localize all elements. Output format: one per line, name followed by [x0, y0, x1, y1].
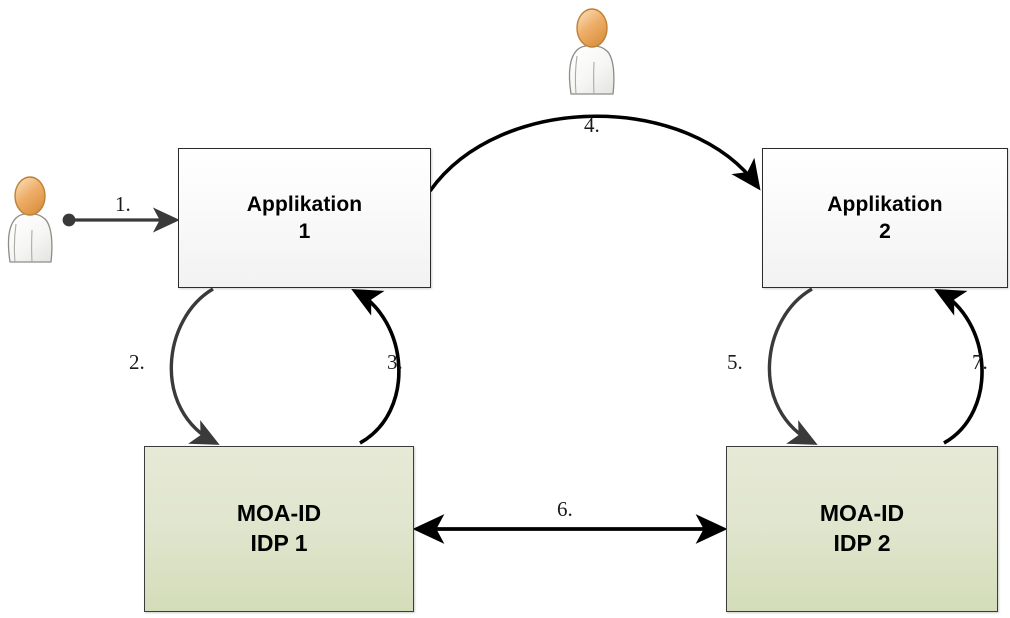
node-moa-id-idp-2-line2: IDP 2 [833, 529, 890, 559]
node-applikation-2-line1: Applikation [827, 191, 942, 218]
node-moa-id-idp-1-line1: MOA-ID [237, 499, 321, 529]
step-label-4: 4. [584, 113, 600, 138]
connector-step-5 [769, 289, 814, 443]
node-applikation-1-line2: 1 [299, 218, 311, 245]
step-label-6: 6. [557, 497, 573, 522]
node-moa-id-idp-2[interactable]: MOA-ID IDP 2 [726, 446, 998, 612]
connector-step-2 [171, 289, 216, 443]
node-applikation-2[interactable]: Applikation 2 [762, 148, 1008, 288]
node-moa-id-idp-2-line1: MOA-ID [820, 499, 904, 529]
node-applikation-1-line1: Applikation [247, 191, 362, 218]
node-applikation-1[interactable]: Applikation 1 [178, 148, 431, 288]
step-label-3: 3. [387, 350, 403, 375]
step-label-5: 5. [727, 350, 743, 375]
node-applikation-2-line2: 2 [879, 218, 891, 245]
step-label-2: 2. [129, 350, 145, 375]
step-label-7: 7. [972, 350, 988, 375]
node-moa-id-idp-1-line2: IDP 1 [250, 529, 307, 559]
user-left-icon [2, 172, 58, 264]
user-top-icon [562, 4, 622, 96]
node-moa-id-idp-1[interactable]: MOA-ID IDP 1 [144, 446, 414, 612]
diagram-canvas: Applikation 1 Applikation 2 MOA-ID IDP 1… [0, 0, 1010, 618]
step-label-1: 1. [115, 192, 131, 217]
